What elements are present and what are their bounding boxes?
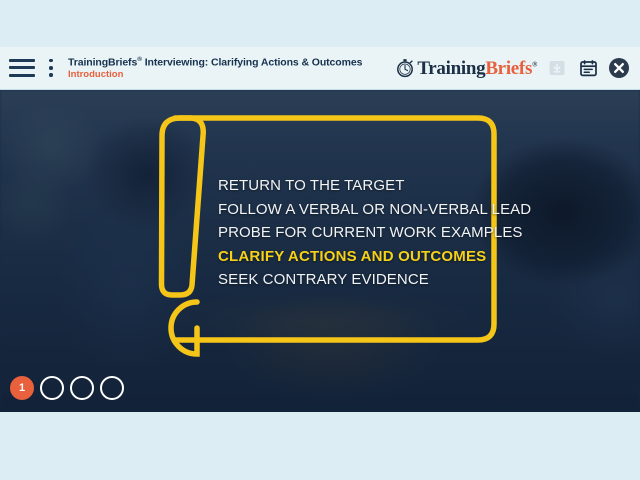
kebab-dot <box>49 73 53 77</box>
logo-registered-mark: ® <box>532 60 537 68</box>
course-title-rest: Interviewing: Clarifying Actions & Outco… <box>142 56 362 68</box>
pagination-dot-4[interactable] <box>100 376 124 400</box>
trainingbriefs-logo: TrainingBriefs® <box>395 58 537 78</box>
kebab-dot <box>49 66 53 70</box>
course-player: TrainingBriefs® Interviewing: Clarifying… <box>0 0 640 480</box>
slide-bullet-list: RETURN TO THE TARGET FOLLOW A VERBAL OR … <box>218 174 486 292</box>
slide-line: SEEK CONTRARY EVIDENCE <box>218 268 486 292</box>
notes-glyph <box>579 59 598 78</box>
close-glyph <box>608 57 630 79</box>
pagination-dot-3[interactable] <box>70 376 94 400</box>
slide-line: PROBE FOR CURRENT WORK EXAMPLES <box>218 221 486 245</box>
header-titles: TrainingBriefs® Interviewing: Clarifying… <box>68 56 362 81</box>
pagination-dot-1[interactable]: 1 <box>10 376 34 400</box>
logo-wordmark: TrainingBriefs® <box>417 59 537 78</box>
slide-line: RETURN TO THE TARGET <box>218 174 486 198</box>
video-stage[interactable]: RETURN TO THE TARGET FOLLOW A VERBAL OR … <box>0 90 640 412</box>
notes-icon[interactable] <box>577 57 599 79</box>
hamburger-line <box>9 66 35 69</box>
header-right-group: TrainingBriefs® <box>395 57 640 79</box>
close-icon[interactable] <box>608 57 630 79</box>
pagination-dot-2[interactable] <box>40 376 64 400</box>
slide-line: FOLLOW A VERBAL OR NON-VERBAL LEAD <box>218 198 486 222</box>
logo-word-briefs: Briefs <box>485 58 532 79</box>
logo-word-training: Training <box>417 58 485 79</box>
course-title: TrainingBriefs® Interviewing: Clarifying… <box>68 56 362 69</box>
hamburger-line <box>9 74 35 77</box>
more-options-icon[interactable] <box>44 59 58 77</box>
kebab-dot <box>49 59 53 63</box>
download-icon[interactable] <box>546 57 568 79</box>
player-header: TrainingBriefs® Interviewing: Clarifying… <box>0 47 640 90</box>
course-title-brand: TrainingBriefs <box>68 56 137 68</box>
stopwatch-icon <box>395 58 415 78</box>
slide-line-highlighted: CLARIFY ACTIONS AND OUTCOMES <box>218 245 486 269</box>
hamburger-menu-icon[interactable] <box>9 59 35 77</box>
header-left-group: TrainingBriefs® Interviewing: Clarifying… <box>0 56 362 81</box>
download-glyph <box>548 59 566 77</box>
pagination: 1 <box>10 376 124 400</box>
hamburger-line <box>9 59 35 62</box>
lesson-subtitle: Introduction <box>68 70 362 80</box>
